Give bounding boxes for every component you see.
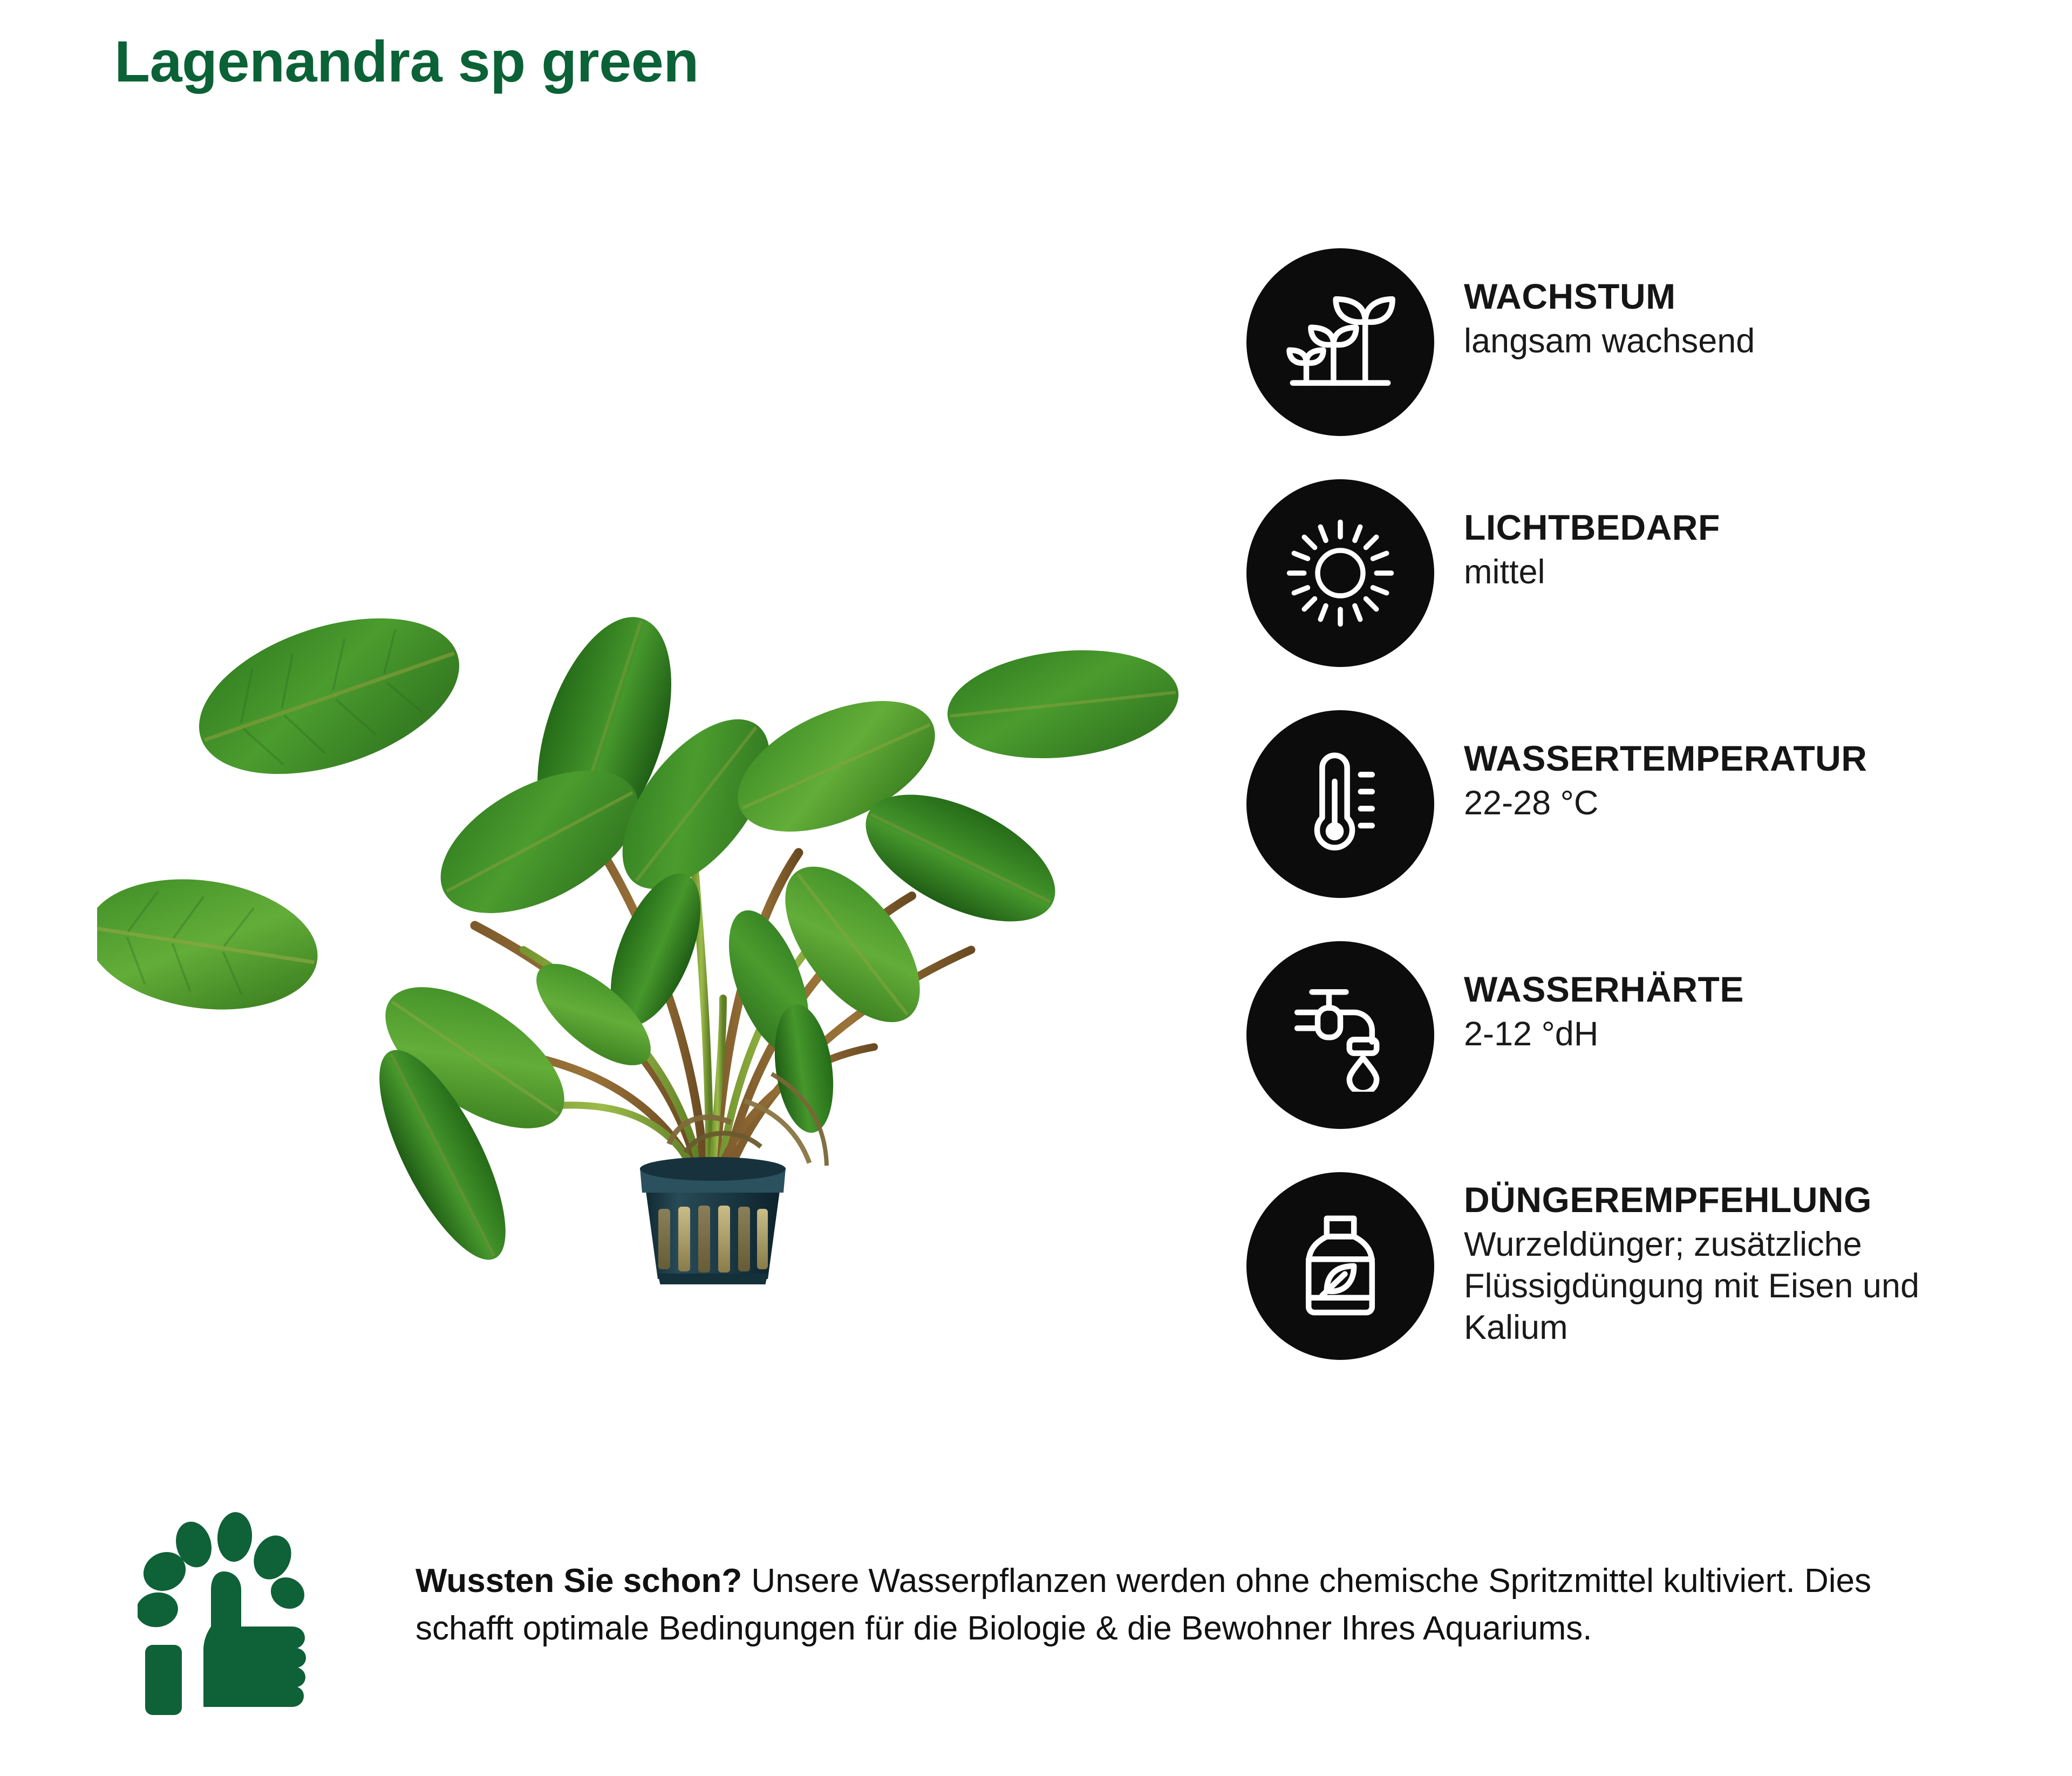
- spec-text-wachstum: WACHSTUM langsam wachsend: [1434, 248, 1755, 362]
- did-you-know-text: Wussten Sie schon? Unsere Wasserpflanzen…: [310, 1506, 1945, 1652]
- spec-label: LICHTBEDARF: [1464, 507, 1720, 548]
- thumbs-up-leaves-icon: [138, 1506, 310, 1721]
- spec-value: 22-28 °C: [1464, 782, 1867, 824]
- spec-text-wassertemperatur: WASSERTEMPERATUR 22-28 °C: [1434, 710, 1867, 824]
- spec-value: 2-12 °dH: [1464, 1013, 1744, 1055]
- sun-icon: [1246, 479, 1434, 667]
- faucet-drop-icon: [1246, 941, 1434, 1129]
- spec-row-wachstum: WACHSTUM langsam wachsend: [1246, 248, 2029, 436]
- plant-growth-icon: [1246, 248, 1434, 436]
- page-title: Lagenandra sp green: [114, 30, 699, 94]
- spec-label: WACHSTUM: [1464, 276, 1755, 317]
- plant-photo: [97, 572, 1252, 1284]
- product-info-card: Lagenandra sp green: [0, 0, 2072, 1776]
- spec-row-wasserhaerte: WASSERHÄRTE 2-12 °dH: [1246, 941, 2029, 1129]
- fertilizer-bottle-icon: [1246, 1172, 1434, 1360]
- thermometer-icon: [1246, 710, 1434, 898]
- spec-label: WASSERTEMPERATUR: [1464, 738, 1867, 779]
- did-you-know-note: Wussten Sie schon? Unsere Wasserpflanzen…: [138, 1506, 1945, 1721]
- spec-value: mittel: [1464, 552, 1720, 593]
- spec-text-duengerempfehlung: DÜNGEREMPFEHLUNG Wurzeldünger; zusätzlic…: [1434, 1172, 1950, 1348]
- did-you-know-lead: Wussten Sie schon?: [415, 1562, 742, 1600]
- spec-label: DÜNGEREMPFEHLUNG: [1464, 1180, 1950, 1221]
- plant-spec-list: WACHSTUM langsam wachsend: [1246, 248, 2029, 1360]
- spec-text-lichtbedarf: LICHTBEDARF mittel: [1434, 479, 1720, 593]
- spec-label: WASSERHÄRTE: [1464, 969, 1744, 1010]
- spec-row-duengerempfehlung: DÜNGEREMPFEHLUNG Wurzeldünger; zusätzlic…: [1246, 1172, 2029, 1360]
- spec-text-wasserhaerte: WASSERHÄRTE 2-12 °dH: [1434, 941, 1744, 1055]
- spec-row-lichtbedarf: LICHTBEDARF mittel: [1246, 479, 2029, 667]
- spec-row-wassertemperatur: WASSERTEMPERATUR 22-28 °C: [1246, 710, 2029, 898]
- spec-value: langsam wachsend: [1464, 321, 1755, 362]
- spec-value: Wurzeldünger; zusätzliche Flüssigdüngung…: [1464, 1224, 1950, 1349]
